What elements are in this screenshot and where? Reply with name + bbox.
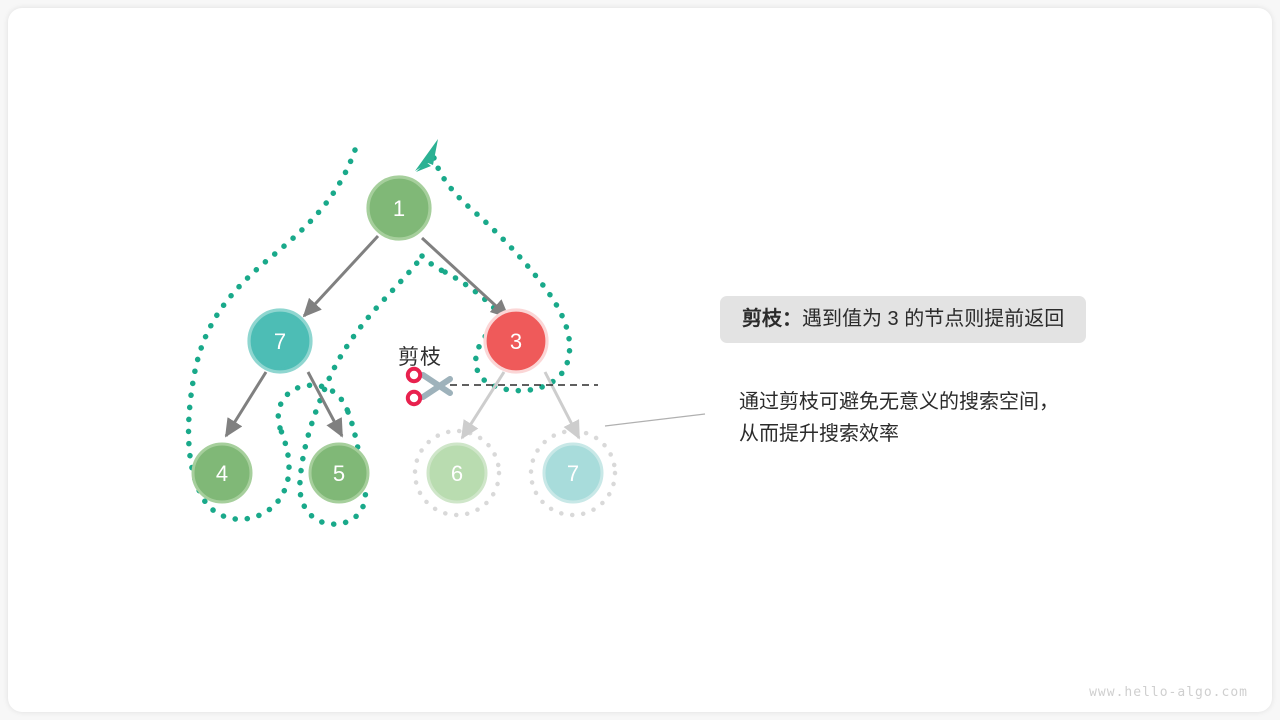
watermark: www.hello-algo.com [1089,685,1248,700]
note-text: 通过剪枝可避免无意义的搜索空间， 从而提升搜索效率 [739,386,1059,450]
callout-box: 剪枝：遇到值为 3 的节点则提前返回 [720,296,1086,343]
note-line-2: 从而提升搜索效率 [739,418,1059,450]
node-rl-skipped[interactable]: 6 [428,444,486,502]
node-right-label: 3 [510,329,522,354]
node-left[interactable]: 7 [249,310,311,372]
scissors-icon [408,369,450,404]
screenshot-root: 1 7 3 4 5 [0,0,1280,720]
callout-body: 遇到值为 3 的节点则提前返回 [802,308,1064,330]
node-right-pruned[interactable]: 3 [485,310,547,372]
node-lr-label: 5 [333,461,345,486]
traversal-arrow-head [415,139,438,172]
node-rl-label: 6 [451,461,463,486]
edge-root-left [304,236,378,316]
diagram-card: 1 7 3 4 5 [8,8,1272,712]
tree-diagram: 1 7 3 4 5 [8,8,1272,712]
note-line-1: 通过剪枝可避免无意义的搜索空间， [739,386,1059,418]
edge-left-lr [308,372,342,436]
callout-lead: 剪枝： [742,308,802,330]
node-left-label: 7 [274,329,286,354]
prune-label: 剪枝 [398,341,442,371]
node-root-label: 1 [393,196,405,221]
edge-left-ll [226,372,266,436]
note-leader-line [605,414,705,426]
node-rr-label: 7 [567,461,579,486]
node-lr[interactable]: 5 [310,444,368,502]
node-ll-label: 4 [216,461,228,486]
edge-right-rr [545,372,579,438]
node-ll[interactable]: 4 [193,444,251,502]
node-rr-skipped[interactable]: 7 [544,444,602,502]
node-root[interactable]: 1 [368,177,430,239]
edge-root-right [422,238,508,317]
